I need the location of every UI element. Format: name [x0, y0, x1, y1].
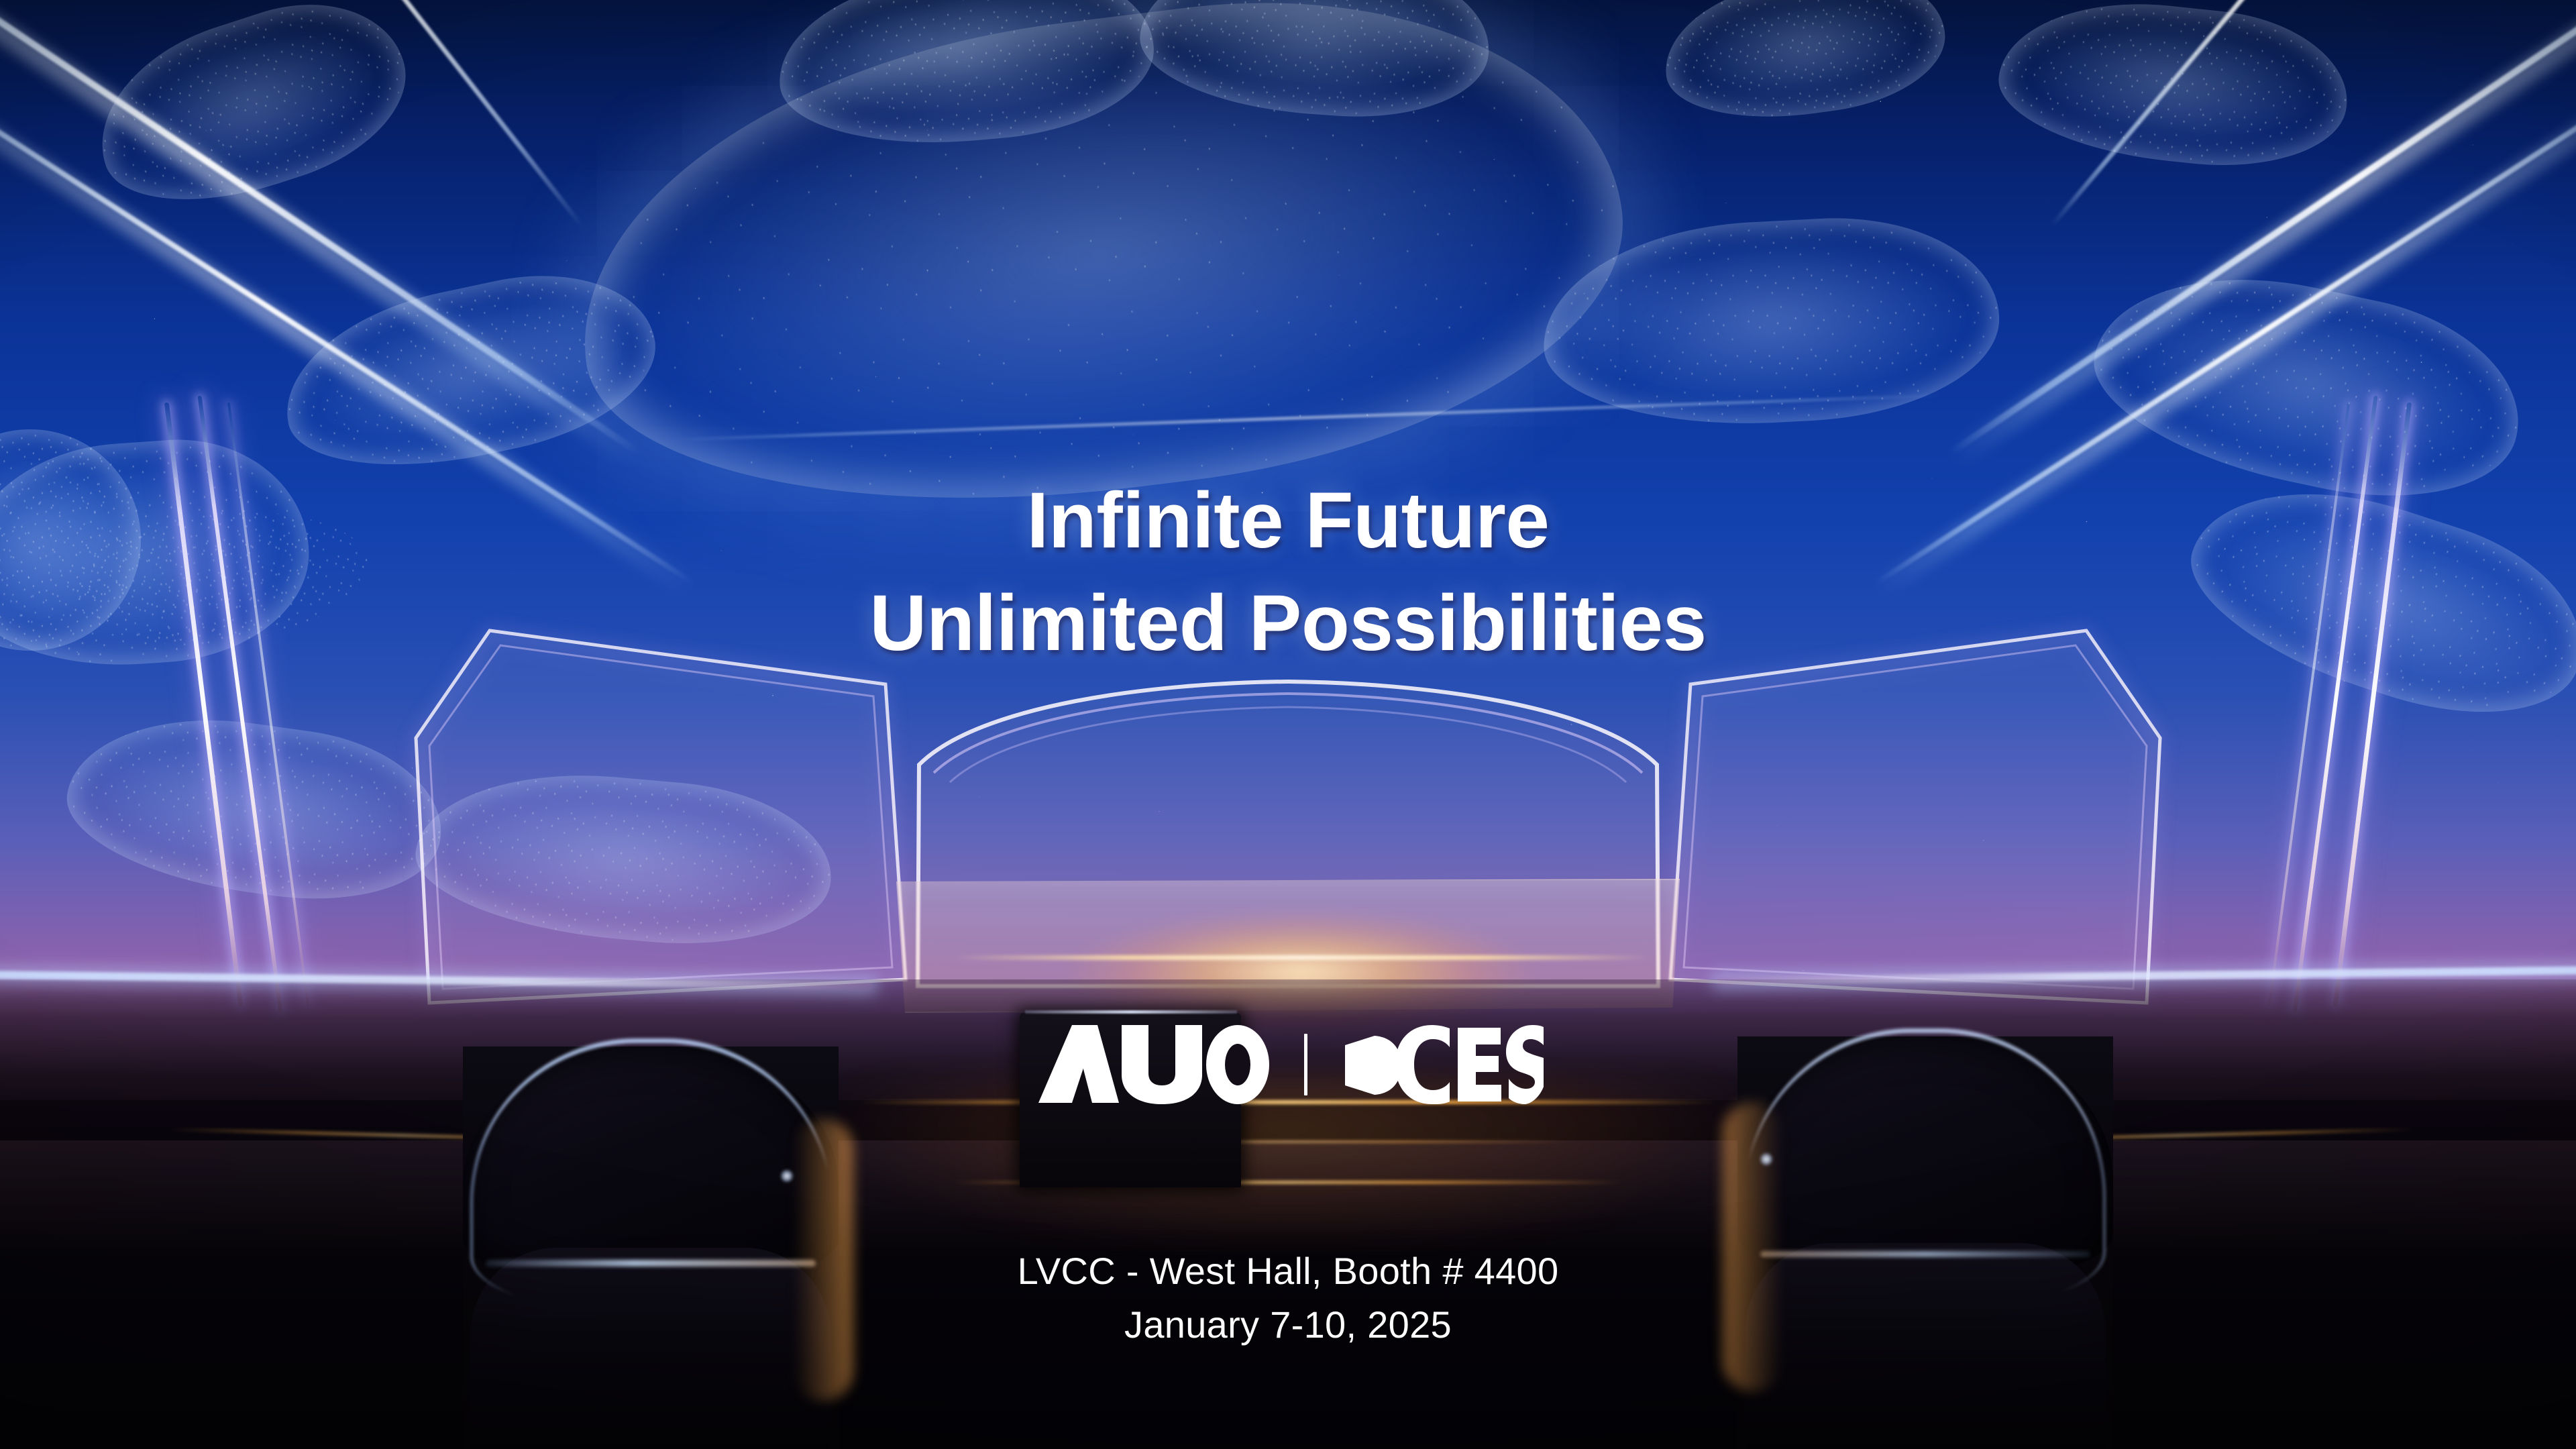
ces-trademark-symbol: TM [1519, 1026, 1538, 1040]
logo-divider [1304, 1034, 1307, 1095]
headline-block: Infinite Future Unlimited Possibilities [0, 470, 2576, 676]
event-info-block: LVCC - West Hall, Booth # 4400 January 7… [0, 1244, 2576, 1351]
event-venue: LVCC - West Hall, Booth # 4400 [0, 1244, 2576, 1298]
key-visual-canvas: Infinite Future Unlimited Possibilities [0, 0, 2576, 1449]
ces-logo[interactable]: TM [1342, 1025, 1544, 1104]
headline-line-2: Unlimited Possibilities [0, 572, 2576, 675]
seat-right-specular-highlight [1758, 1150, 1775, 1168]
logo-lockup: TM [0, 1025, 2576, 1104]
center-console-top-light [1025, 1010, 1237, 1014]
seat-left-specular-highlight [778, 1167, 796, 1185]
headline-line-1: Infinite Future [0, 470, 2576, 572]
auo-logo[interactable] [1033, 1025, 1269, 1104]
event-dates: January 7-10, 2025 [0, 1298, 2576, 1352]
